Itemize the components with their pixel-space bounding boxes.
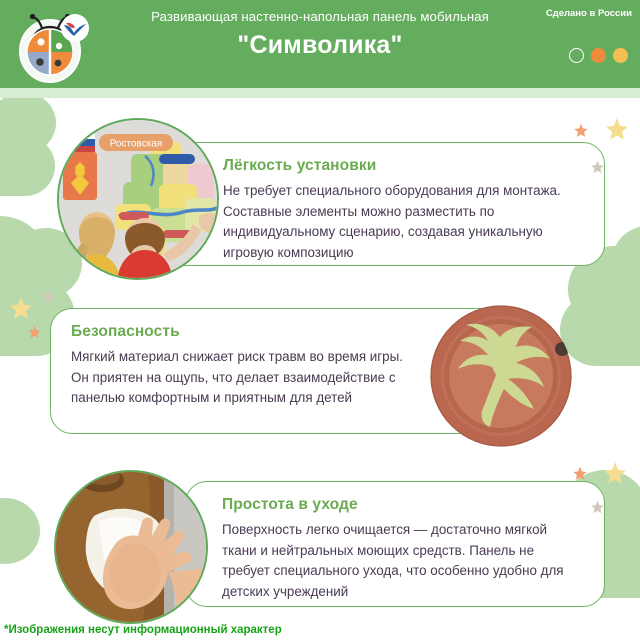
card-title: Простота в уходе — [222, 496, 584, 514]
header-title-block: Развивающая настенно-напольная панель мо… — [105, 8, 535, 61]
card-title: Безопасность — [71, 323, 404, 341]
svg-text:Ростовская: Ростовская — [110, 139, 163, 150]
photo-hand-wiping-panel — [54, 470, 208, 624]
star-gray-icon — [590, 500, 605, 520]
made-in-russia-label: Сделано в России — [546, 8, 632, 19]
header-accent-band — [0, 88, 640, 98]
photo-children-at-map: Ростовская — [57, 118, 219, 280]
dot-white-icon — [569, 48, 584, 63]
star-yellow-icon — [602, 461, 628, 492]
header-subtitle: Развивающая настенно-напольная панель мо… — [105, 8, 535, 26]
flag-dots — [569, 48, 628, 63]
cloud-shape — [0, 498, 40, 564]
star-gray-icon — [40, 289, 56, 310]
card-body: Мягкий материал снижает риск травм во вр… — [71, 347, 404, 409]
infographic-page: Развивающая настенно-напольная панель мо… — [0, 0, 640, 640]
page-header: Развивающая настенно-напольная панель мо… — [0, 0, 640, 88]
star-orange-icon — [572, 466, 588, 487]
cloud-shape — [0, 136, 55, 196]
star-yellow-icon — [8, 296, 34, 327]
photo-palm-tree-panel — [430, 305, 572, 447]
dot-orange-icon — [591, 48, 606, 63]
ladybug-logo — [14, 6, 90, 84]
disclaimer-note: *Изображения несут информационный характ… — [4, 624, 282, 636]
page-title: "Символика" — [105, 29, 535, 61]
dot-yellow-icon — [613, 48, 628, 63]
star-orange-icon — [27, 325, 42, 345]
star-orange-icon — [573, 123, 589, 144]
feature-card-easy-care: Простота в уходе Поверхность легко очища… — [185, 481, 605, 607]
cloud-shape — [560, 294, 640, 366]
star-gray-icon — [590, 160, 605, 180]
star-yellow-icon — [604, 117, 630, 148]
card-title: Лёгкость установки — [223, 157, 584, 175]
card-body: Поверхность легко очищается — достаточно… — [222, 520, 584, 602]
card-body: Не требует специального оборудования для… — [223, 181, 584, 263]
